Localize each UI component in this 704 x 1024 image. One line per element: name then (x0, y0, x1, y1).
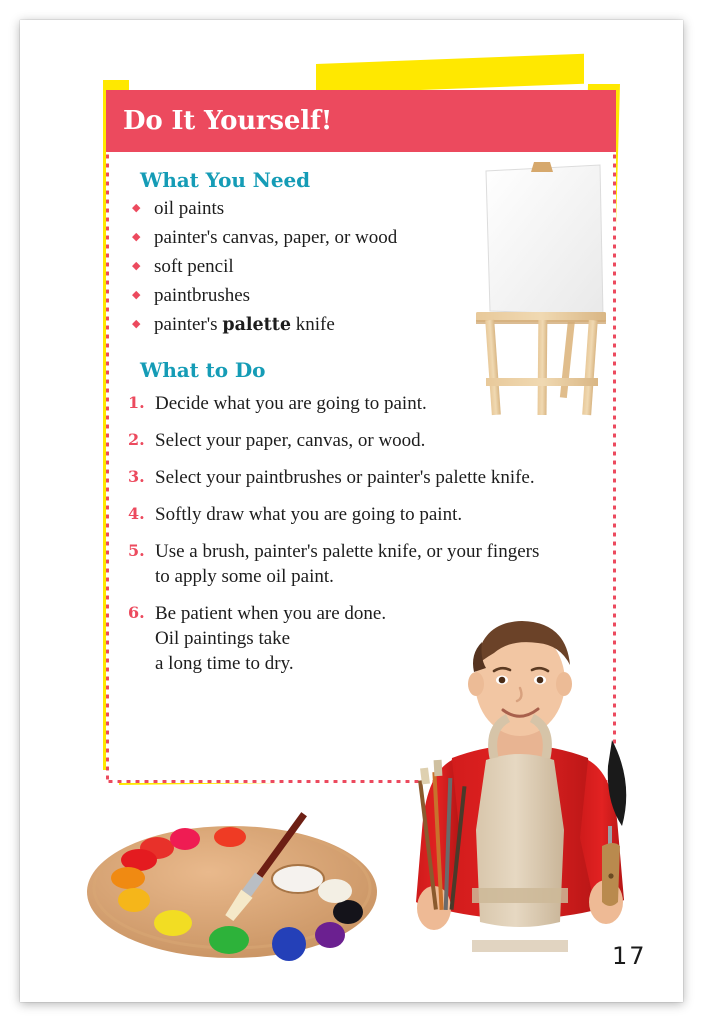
diamond-bullet-icon: ◆ (128, 290, 154, 301)
diamond-bullet-icon: ◆ (128, 203, 154, 214)
diamond-bullet-icon: ◆ (128, 261, 154, 272)
step-number: 4. (128, 502, 155, 523)
step-text: Select your paintbrushes or painter's pa… (155, 465, 535, 490)
list-item: 2. Select your paper, canvas, or wood. (128, 428, 598, 453)
step-text: Use a brush, painter's palette knife, or… (155, 539, 539, 589)
step-text: Softly draw what you are going to paint. (155, 502, 462, 527)
material-label: soft pencil (154, 257, 234, 276)
easel-photo (472, 160, 650, 425)
page-title: Do It Yourself! (106, 106, 332, 136)
palette-photo (82, 810, 382, 965)
material-label: painter's canvas, paper, or wood (154, 228, 397, 247)
step-number: 3. (128, 465, 155, 486)
material-label-highlighted: painter's palette knife (154, 315, 335, 335)
page-number: 17 (612, 942, 647, 970)
list-item: 4. Softly draw what you are going to pai… (128, 502, 598, 527)
step-number: 1. (128, 391, 155, 412)
step-text: Decide what you are going to paint. (155, 391, 427, 416)
yellow-accent-top (316, 54, 584, 94)
bold-vocabulary-word: palette (222, 315, 291, 335)
diamond-bullet-icon: ◆ (128, 232, 154, 243)
step-number: 6. (128, 601, 155, 622)
diamond-bullet-icon: ◆ (128, 319, 154, 330)
material-label: paintbrushes (154, 286, 250, 305)
step-text: Be patient when you are done.Oil paintin… (155, 601, 386, 676)
step-text: Select your paper, canvas, or wood. (155, 428, 425, 453)
header-bar: Do It Yourself! (106, 90, 616, 152)
list-item: 5. Use a brush, painter's palette knife,… (128, 539, 598, 589)
material-label: oil paints (154, 199, 224, 218)
list-item: 3. Select your paintbrushes or painter's… (128, 465, 598, 490)
book-page-card: Do It Yourself! What You Need ◆ oil pain… (20, 20, 683, 1002)
boy-photo (390, 620, 650, 1002)
step-number: 5. (128, 539, 155, 560)
step-number: 2. (128, 428, 155, 449)
